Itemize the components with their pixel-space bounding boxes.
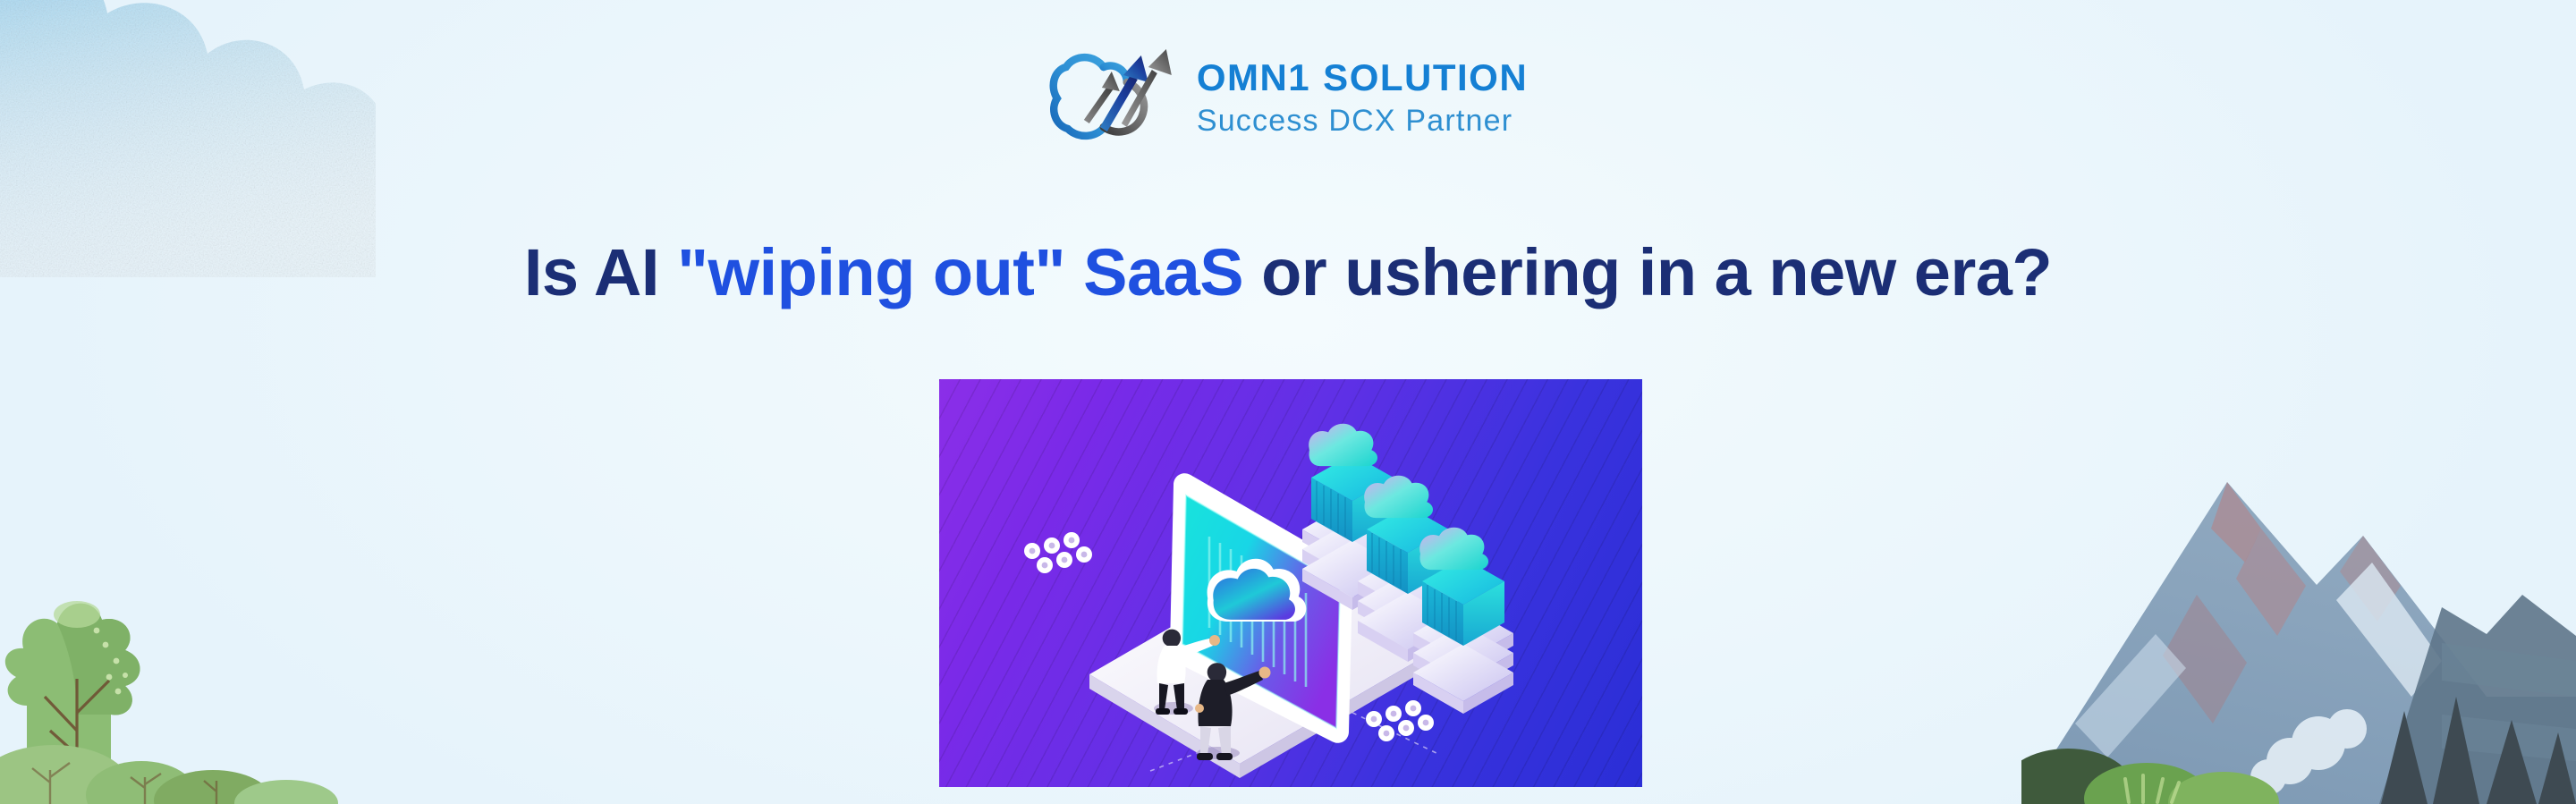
gear-cluster-left — [1024, 532, 1092, 573]
headline-segment-1: Is AI — [524, 235, 677, 309]
foliage-decoration-icon — [0, 571, 367, 804]
logo-wordmark: OMN1SOLUTION Success DCX Partner — [1197, 55, 1528, 136]
logo-title-part2: SOLUTION — [1323, 56, 1528, 98]
marketing-banner: OMN1SOLUTION Success DCX Partner Is AI "… — [0, 0, 2576, 804]
isometric-cloud-scene — [939, 379, 1642, 787]
mountain-decoration-icon — [2021, 428, 2576, 804]
page-headline: Is AI "wiping out" SaaS or ushering in a… — [0, 234, 2576, 310]
cloud-with-arrows-logo-icon — [1048, 43, 1182, 148]
logo-title: OMN1SOLUTION — [1197, 59, 1528, 97]
server-tower-3 — [1413, 528, 1513, 714]
logo-tagline: Success DCX Partner — [1197, 106, 1528, 136]
brand-logo[interactable]: OMN1SOLUTION Success DCX Partner — [1048, 43, 1528, 148]
hero-illustration — [939, 379, 1642, 787]
headline-segment-accent: "wiping out" SaaS — [677, 235, 1243, 309]
logo-title-part1: OMN1 — [1197, 56, 1310, 98]
headline-segment-3: or ushering in a new era? — [1243, 235, 2052, 309]
